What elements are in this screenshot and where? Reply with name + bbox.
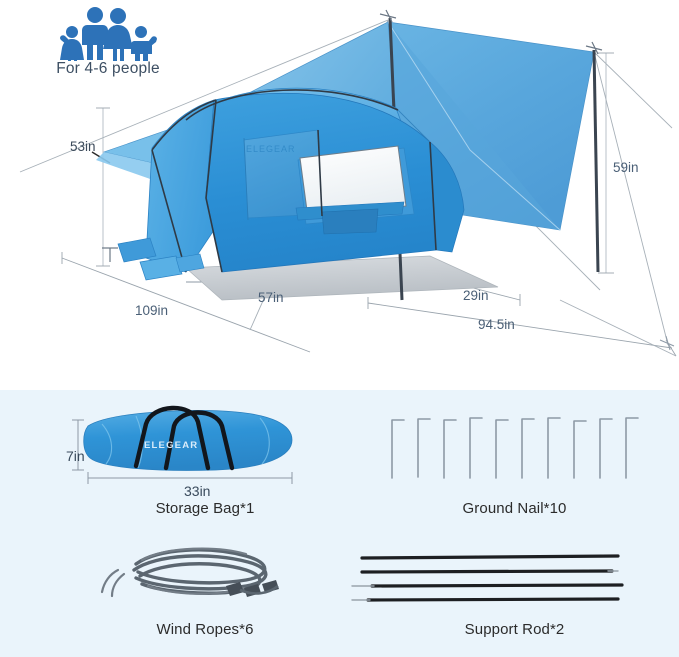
accessory-label-support-rod: Support Rod*2 xyxy=(350,621,679,638)
dimension-label-overall-width: 109in xyxy=(135,303,168,318)
capacity-badge: For 4-6 people xyxy=(28,4,188,84)
svg-text:ELEGEAR: ELEGEAR xyxy=(246,144,296,154)
ground-stake-icon xyxy=(102,248,118,262)
ground-nail-icon xyxy=(350,398,679,498)
storage-bag-width-label: 33in xyxy=(184,483,210,499)
svg-text:ELEGEAR: ELEGEAR xyxy=(144,440,198,451)
dimension-label-height-front: 53in xyxy=(70,139,96,154)
accessory-storage-bag: ELEGEAR 7in 33in Storage Bag*1 xyxy=(40,398,370,523)
accessory-label-ground-nail: Ground Nail*10 xyxy=(350,500,679,517)
hero-product-illustration: ELEGEAR xyxy=(0,0,679,390)
accessories-panel: ELEGEAR 7in 33in Storage Bag*1 xyxy=(0,390,679,657)
accessory-label-wind-rope: Wind Ropes*6 xyxy=(40,621,370,638)
dimension-label-canopy-pole-height: 59in xyxy=(613,160,639,175)
accessory-wind-rope: Wind Ropes*6 xyxy=(40,530,370,650)
support-rod-icon xyxy=(350,530,679,620)
wind-rope-icon xyxy=(40,530,370,620)
dimension-label-tent-depth: 29in xyxy=(463,288,489,303)
accessory-support-rod: Support Rod*2 xyxy=(350,530,679,650)
accessory-label-storage-bag: Storage Bag*1 xyxy=(40,500,370,517)
dimension-label-overall-depth: 94.5in xyxy=(478,317,515,332)
infographic-root: ELEGEAR xyxy=(0,0,679,657)
storage-bag-height-label: 7in xyxy=(66,448,85,464)
dimension-label-tent-front-width: 57in xyxy=(258,290,284,305)
capacity-badge-label: For 4-6 people xyxy=(28,60,188,78)
accessory-ground-nail: Ground Nail*10 xyxy=(350,398,679,523)
